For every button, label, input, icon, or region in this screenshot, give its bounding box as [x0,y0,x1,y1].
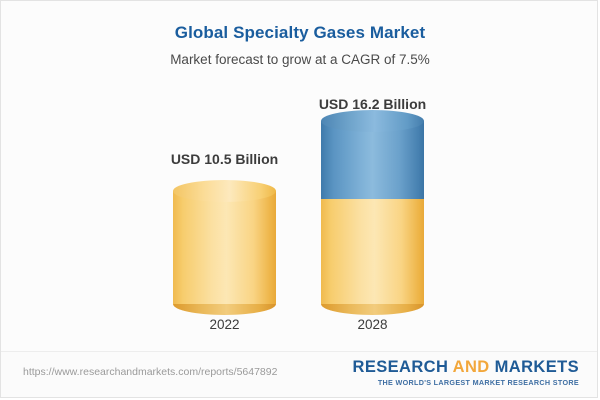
cylinder-2022 [173,191,276,304]
chart-card: Global Specialty Gases Market Market for… [0,0,598,398]
chart-footer: https://www.researchandmarkets.com/repor… [1,351,598,397]
logo-word-research: RESEARCH [353,358,453,376]
axis-label-2022: 2022 [209,317,239,332]
logo-tagline: THE WORLD'S LARGEST MARKET RESEARCH STOR… [353,378,580,387]
bar-group-2022[interactable]: USD 10.5 Billion 2022 [173,1,276,353]
chart-plot-area: USD 10.5 Billion 2022 USD 16.2 Billion [1,1,598,353]
logo-word-markets: MARKETS [490,358,579,376]
cylinder-2028-top [321,110,424,132]
cylinder-2028-growth-body [321,121,424,199]
research-and-markets-logo[interactable]: RESEARCH AND MARKETS THE WORLD'S LARGEST… [353,359,580,387]
source-url-link[interactable]: https://www.researchandmarkets.com/repor… [23,366,277,378]
cylinder-2028-base-body [321,196,424,304]
cylinder-2022-top [173,180,276,202]
logo-word-and: AND [453,358,490,376]
axis-label-2028: 2028 [357,317,387,332]
logo-wordmark: RESEARCH AND MARKETS [353,359,580,376]
cylinder-2028-base-segment [321,196,424,304]
bar-group-2028[interactable]: USD 16.2 Billion 2028 [321,1,424,353]
cylinder-2028-growth-segment [321,121,424,199]
value-label-2022: USD 10.5 Billion [171,151,278,167]
cylinder-2022-body [173,191,276,304]
